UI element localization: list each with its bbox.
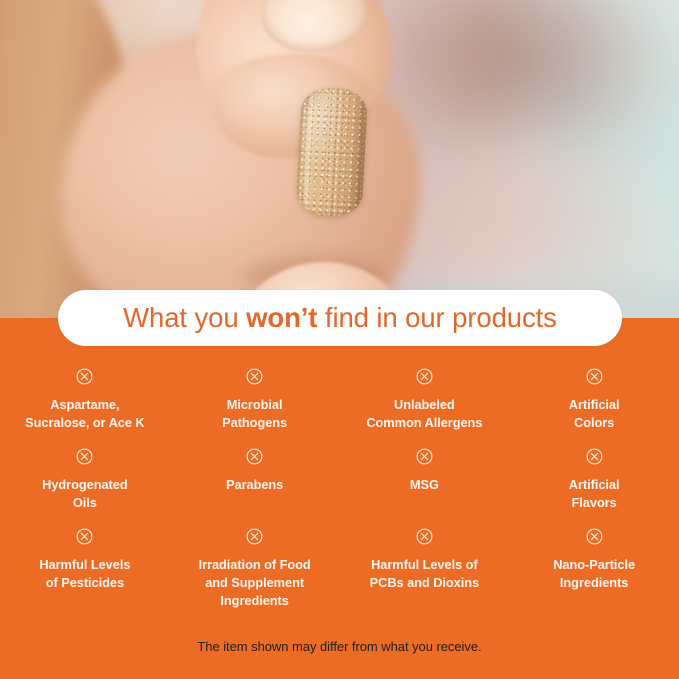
exclusion-label: Harmful Levels of PCBs and Dioxins — [370, 556, 479, 592]
exclusions-grid: Aspartame, Sucralose, or Ace K Microbial… — [0, 368, 679, 616]
circle-x-icon — [246, 528, 263, 545]
circle-x-icon — [76, 448, 93, 465]
exclusion-item: Artificial Flavors — [509, 448, 679, 528]
exclusion-item: Harmful Levels of Pesticides — [0, 528, 170, 616]
product-photo — [0, 0, 679, 320]
exclusion-item: Unlabeled Common Allergens — [340, 368, 510, 448]
circle-x-icon — [76, 368, 93, 385]
exclusion-item: Artificial Colors — [509, 368, 679, 448]
circle-x-icon — [586, 528, 603, 545]
page-title-emphasis: won’t — [246, 302, 317, 333]
exclusion-label: Hydrogenated Oils — [42, 476, 127, 512]
product-infographic: What you won’t find in our products Aspa… — [0, 0, 679, 679]
circle-x-icon — [246, 448, 263, 465]
exclusion-label: Aspartame, Sucralose, or Ace K — [25, 396, 144, 432]
exclusion-item: Hydrogenated Oils — [0, 448, 170, 528]
exclusion-item: Harmful Levels of PCBs and Dioxins — [340, 528, 510, 616]
exclusion-item: Parabens — [170, 448, 340, 528]
exclusions-row: Aspartame, Sucralose, or Ace K Microbial… — [0, 368, 679, 448]
circle-x-icon — [586, 368, 603, 385]
exclusion-item: Irradiation of Food and Supplement Ingre… — [170, 528, 340, 616]
exclusion-label: Nano-Particle Ingredients — [553, 556, 635, 592]
exclusion-item: MSG — [340, 448, 510, 528]
circle-x-icon — [416, 368, 433, 385]
footer: The item shown may differ from what you … — [0, 638, 679, 656]
exclusion-label: Parabens — [226, 476, 283, 494]
exclusion-label: Microbial Pathogens — [222, 396, 287, 432]
exclusion-label: Unlabeled Common Allergens — [366, 396, 482, 432]
exclusion-label: Artificial Colors — [569, 396, 620, 432]
circle-x-icon — [76, 528, 93, 545]
exclusion-label: Harmful Levels of Pesticides — [39, 556, 130, 592]
exclusion-label: Artificial Flavors — [569, 476, 620, 512]
exclusion-label: Irradiation of Food and Supplement Ingre… — [199, 556, 311, 609]
disclaimer-text: The item shown may differ from what you … — [197, 639, 481, 654]
exclusion-item: Microbial Pathogens — [170, 368, 340, 448]
exclusion-item: Nano-Particle Ingredients — [509, 528, 679, 616]
page-title-part1: What you — [123, 302, 246, 333]
exclusion-item: Aspartame, Sucralose, or Ace K — [0, 368, 170, 448]
exclusions-row: Hydrogenated Oils Parabens MSG — [0, 448, 679, 528]
exclusions-row: Harmful Levels of Pesticides Irradiation… — [0, 528, 679, 616]
circle-x-icon — [416, 448, 433, 465]
circle-x-icon — [246, 368, 263, 385]
exclusion-label: MSG — [410, 476, 439, 494]
circle-x-icon — [586, 448, 603, 465]
title-banner: What you won’t find in our products — [58, 290, 622, 346]
supplement-tablet — [296, 86, 369, 217]
circle-x-icon — [416, 528, 433, 545]
page-title-part2: find in our products — [317, 302, 556, 333]
page-title: What you won’t find in our products — [123, 304, 557, 332]
